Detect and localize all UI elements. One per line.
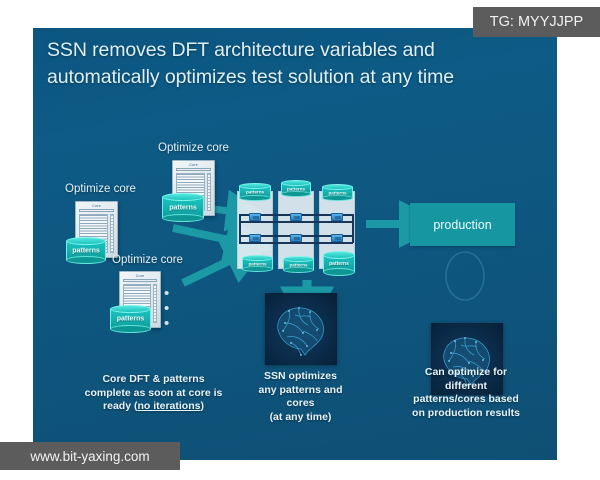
core-doc-side-strip [207,173,211,211]
caption-line: (at any time) [238,411,363,425]
core-doc-subheader [79,209,114,212]
cylinder-top [323,251,355,259]
cylinder-bottom [322,195,353,201]
ssn-node-4 [249,234,261,242]
patterns-label: patterns [322,190,353,195]
cylinder-bottom [283,267,314,273]
brain-icon [265,293,337,365]
patterns-label: patterns [281,186,311,191]
caption-suffix: ) [200,400,204,412]
cylinder-bottom [66,256,106,264]
optimize-core-label-3: Optimize core [112,254,183,266]
ssn-bus-vertical-right [352,214,354,243]
ssn-node-2 [290,213,302,221]
cylinder-top [162,193,204,201]
patterns-label-3: patterns [110,315,151,322]
caption-line: Core DFT & patterns [61,373,246,387]
caption-line: patterns/cores based [396,393,536,407]
optimize-core-label-1: Optimize core [65,183,136,195]
patterns-cylinder-1: patterns [66,237,106,264]
patterns-label-2: patterns [162,204,204,211]
caption-underline: no iterations [137,400,200,412]
patterns-label: patterns [242,261,273,266]
patterns-cylinder-3: patterns [110,305,151,333]
patterns-cylinder-2: patterns [162,193,204,222]
ssn-node-5 [290,234,302,242]
brain-image-left [265,293,337,365]
cylinder-bottom [323,268,355,276]
caption-line: on production results [396,407,536,421]
caption-line: different [396,380,536,394]
core-doc-title: Core [120,274,160,278]
telegram-watermark: TG: MYYJJPP [473,7,600,37]
cylinder-top [66,237,106,245]
patterns-label-1: patterns [66,247,106,254]
presentation-slide: SSN removes DFT architecture variables a… [33,28,557,460]
screenshot-root: SSN removes DFT architecture variables a… [0,0,600,480]
caption-ssn-optimizes: SSN optimizes any patterns and cores (at… [238,370,363,424]
cylinder-bottom [281,191,311,197]
arrow-core3-to-ssn [183,260,231,283]
feedback-loop-arrow [446,252,484,300]
website-watermark: www.bit-yaxing.com [0,442,180,470]
ssn-node-6 [331,234,343,242]
cylinder-bottom [162,214,204,222]
cylinder-bottom [239,195,271,201]
core-doc-title: Core [76,204,117,208]
cylinder-bottom [242,266,273,272]
core-doc-side-strip [110,214,114,253]
ssn-top-cylinder-2: patterns [281,180,311,197]
ssn-node-3 [331,213,343,221]
core-doc-title: Core [173,163,214,167]
caption-line: any patterns and [238,384,363,398]
caption-line: Can optimize for [396,366,536,380]
cylinder-top [239,183,271,189]
ssn-bottom-cylinder-3: patterns [323,251,355,276]
core-doc-subheader [123,279,157,282]
core-doc-side-strip [153,284,157,323]
caption-line: cores [238,397,363,411]
ssn-bottom-cylinder-1: patterns [242,255,273,272]
website-watermark-text: www.bit-yaxing.com [30,449,149,464]
ellipsis-more-cores: • • • [164,286,172,331]
optimize-core-label-2: Optimize core [158,142,229,154]
cylinder-top [110,305,151,313]
ssn-node-1 [249,213,261,221]
caption-production-results: Can optimize for different patterns/core… [396,366,536,420]
ssn-top-cylinder-3: patterns [322,184,353,201]
patterns-label: patterns [239,189,271,194]
caption-line: SSN optimizes [238,370,363,384]
ssn-bus-horizontal-2 [239,221,353,223]
production-box[interactable]: production [410,203,515,246]
telegram-watermark-text: TG: MYYJJPP [490,14,583,30]
patterns-label: patterns [323,260,355,266]
ssn-bottom-cylinder-2: patterns [283,256,314,273]
patterns-label: patterns [283,262,314,267]
core-doc-subheader [176,168,211,171]
caption-prefix: ready ( [103,400,137,412]
ssn-bus-vertical-left [239,214,241,243]
cylinder-bottom [110,325,151,333]
ssn-top-cylinder-1: patterns [239,183,271,201]
ssn-bus-horizontal-4 [239,242,353,244]
production-label: production [433,218,491,232]
arrow-core1-to-ssn [173,228,229,240]
caption-core-dft: Core DFT & patterns complete as soon at … [61,373,246,414]
ssn-network-grid: patterns patterns patterns [237,183,355,278]
caption-line: complete as soon at core is [61,387,246,401]
caption-line-underlined: ready (no iterations) [61,400,246,414]
